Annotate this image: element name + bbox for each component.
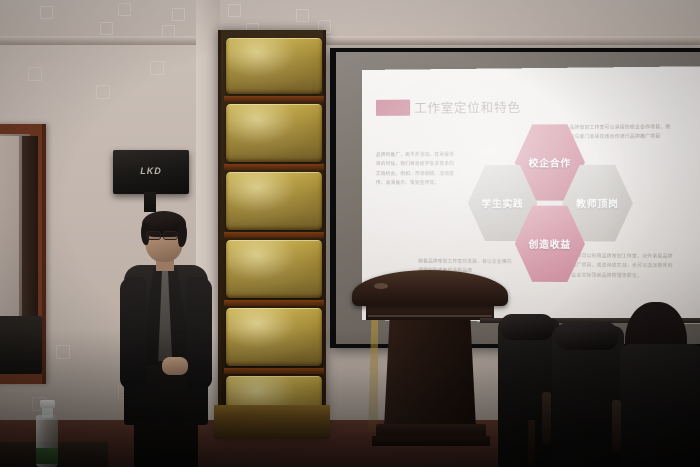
photo-scene: 工作室定位和特色 品牌的推广，离不开活动。在承接项目的时候，我们将会给学生非常多…: [0, 0, 700, 467]
ceiling-beam: [0, 36, 700, 45]
podium-base-lower: [372, 436, 490, 446]
glasses-icon: [146, 231, 161, 240]
speaker-brand-label: LKD: [113, 166, 189, 176]
podium-collar: [366, 304, 494, 320]
auditorium-seat-headrest: [556, 322, 618, 350]
slide-title-swatch: [376, 100, 410, 116]
gold-panel-base: [214, 405, 330, 439]
podium-column: [384, 320, 476, 428]
hexagon-label: 教师顶岗: [576, 196, 619, 210]
hexagon-label: 创造收益: [529, 237, 572, 251]
hexagon-label: 学生实践: [481, 196, 523, 210]
presenter-arm-right: [186, 277, 212, 389]
seat-leg: [528, 420, 535, 466]
podium-trim: [368, 315, 492, 317]
presenter-legs: [134, 421, 198, 467]
presenter: [112, 205, 220, 467]
water-bottle-cap: [40, 400, 55, 408]
hexagon-label: 校企合作: [529, 155, 572, 169]
slide-title: 工作室定位和特色: [414, 97, 521, 117]
seat-armrest: [542, 392, 551, 444]
auditorium-seat-headrest: [500, 314, 554, 340]
gold-panel-wall: [218, 30, 326, 438]
hexagon-diagram: 校企合作 学生实践 教师顶岗 创造收益: [473, 122, 628, 286]
podium: [352, 270, 508, 450]
podium-top: [352, 270, 508, 306]
auditorium-seat: [620, 344, 700, 467]
presenter-hair-right: [178, 223, 187, 247]
left-equipment: [0, 316, 42, 374]
slide-text-left: 品牌的推广，离不开活动。在承接项目的时候，我们将会给学生非常多的实践机会。例如：…: [376, 150, 457, 188]
wall-speaker: LKD: [113, 150, 189, 194]
presenter-hands: [162, 357, 188, 375]
glasses-icon: [163, 231, 178, 240]
presenter-arm-left: [120, 277, 146, 389]
podium-knob: [374, 283, 388, 289]
water-bottle-label: [36, 448, 58, 464]
glasses-bridge: [161, 234, 164, 235]
seat-armrest: [612, 400, 621, 452]
